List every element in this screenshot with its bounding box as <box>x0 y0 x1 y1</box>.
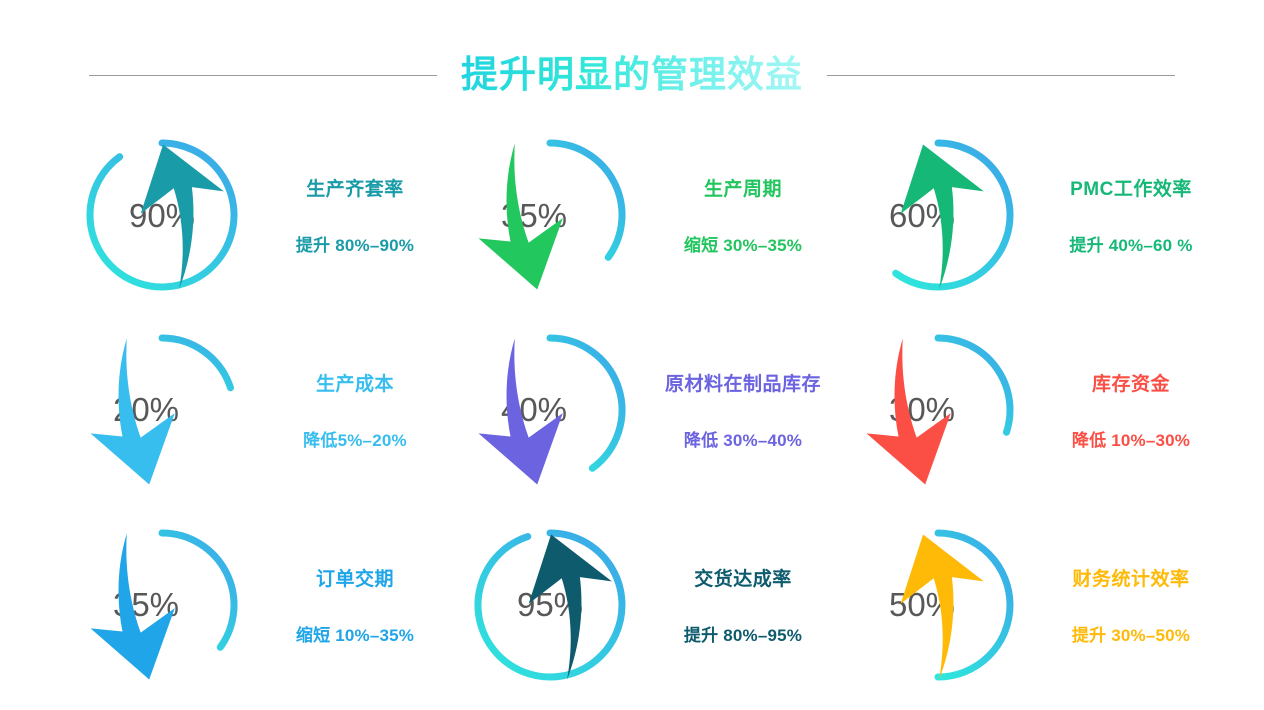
metric-detail: 提升 40%–60 % <box>1069 231 1192 256</box>
metric-label: 库存资金 <box>1092 369 1170 396</box>
page-title: 提升明显的管理效益 <box>461 55 803 96</box>
metric-detail: 降低 30%–40% <box>684 426 802 451</box>
metric-detail: 缩短 30%–35% <box>684 231 802 256</box>
metric-card[interactable]: 95%交货达成率提升 80%–95% <box>450 507 838 702</box>
page-header: 提升明显的管理效益 <box>0 40 1264 110</box>
metric-detail: 提升 30%–50% <box>1072 621 1190 646</box>
gauge-ring-90: 90% <box>82 135 242 295</box>
metric-label: 生产成本 <box>316 369 394 396</box>
metric-text: 生产周期缩短 30%–35% <box>648 174 838 256</box>
metric-label: 财务统计效率 <box>1072 564 1189 591</box>
gauge-ring-50: 50% <box>858 525 1018 685</box>
gauge-center: 40% <box>454 330 614 490</box>
metric-detail: 降低5%–20% <box>303 426 407 451</box>
gauge-center: 50% <box>842 525 1002 685</box>
metric-card[interactable]: 50%财务统计效率提升 30%–50% <box>838 507 1226 702</box>
gauge-ring-95: 95% <box>470 525 630 685</box>
metric-label: 生产周期 <box>704 174 782 201</box>
metric-card[interactable]: 60%PMC工作效率提升 40%–60 % <box>838 118 1226 313</box>
metric-detail: 降低 10%–30% <box>1072 426 1190 451</box>
header-divider-left <box>89 75 437 76</box>
gauge-ring-40: 40% <box>470 330 630 490</box>
gauge-center: 20% <box>66 330 226 490</box>
arrow-up-icon <box>82 137 242 297</box>
metric-label: PMC工作效率 <box>1070 174 1192 201</box>
gauge-ring-35b: 35% <box>82 525 242 685</box>
gauge-ring-30: 30% <box>858 330 1018 490</box>
gauge-center: 90% <box>82 135 242 295</box>
metric-card[interactable]: 35%生产周期缩短 30%–35% <box>450 118 838 313</box>
metric-text: 订单交期缩短 10%–35% <box>260 564 450 646</box>
arrow-down-icon <box>842 332 1002 492</box>
metric-label: 订单交期 <box>316 564 394 591</box>
gauge-ring-35: 35% <box>470 135 630 295</box>
arrow-down-icon <box>454 137 614 297</box>
metric-label: 交货达成率 <box>694 564 792 591</box>
metric-label: 原材料在制品库存 <box>665 369 821 396</box>
metric-text: 生产成本降低5%–20% <box>260 369 450 451</box>
arrow-up-icon <box>470 527 630 687</box>
metric-label: 生产齐套率 <box>306 174 404 201</box>
gauge-center: 35% <box>66 525 226 685</box>
arrow-down-icon <box>66 332 226 492</box>
arrow-down-icon <box>66 527 226 687</box>
metric-card[interactable]: 35%订单交期缩短 10%–35% <box>62 507 450 702</box>
metrics-grid: 90%生产齐套率提升 80%–90%35%生产周期缩短 30%–35%60%PM… <box>62 118 1222 702</box>
gauge-center: 60% <box>842 135 1002 295</box>
gauge-center: 95% <box>470 525 630 685</box>
metric-detail: 提升 80%–90% <box>296 231 414 256</box>
gauge-ring-60: 60% <box>858 135 1018 295</box>
metric-text: 生产齐套率提升 80%–90% <box>260 174 450 256</box>
gauge-center: 30% <box>842 330 1002 490</box>
arrow-up-icon <box>842 137 1002 297</box>
arrow-down-icon <box>454 332 614 492</box>
arrow-up-icon <box>842 527 1002 687</box>
metric-card[interactable]: 90%生产齐套率提升 80%–90% <box>62 118 450 313</box>
header-divider-right <box>827 75 1175 76</box>
metric-text: PMC工作效率提升 40%–60 % <box>1036 174 1226 256</box>
metric-card[interactable]: 30%库存资金降低 10%–30% <box>838 313 1226 508</box>
metric-card[interactable]: 20%生产成本降低5%–20% <box>62 313 450 508</box>
metric-text: 交货达成率提升 80%–95% <box>648 564 838 646</box>
metric-text: 财务统计效率提升 30%–50% <box>1036 564 1226 646</box>
metric-detail: 缩短 10%–35% <box>296 621 414 646</box>
metric-text: 库存资金降低 10%–30% <box>1036 369 1226 451</box>
gauge-center: 35% <box>454 135 614 295</box>
metric-detail: 提升 80%–95% <box>684 621 802 646</box>
gauge-ring-20: 20% <box>82 330 242 490</box>
metric-text: 原材料在制品库存降低 30%–40% <box>648 369 838 451</box>
metric-card[interactable]: 40%原材料在制品库存降低 30%–40% <box>450 313 838 508</box>
